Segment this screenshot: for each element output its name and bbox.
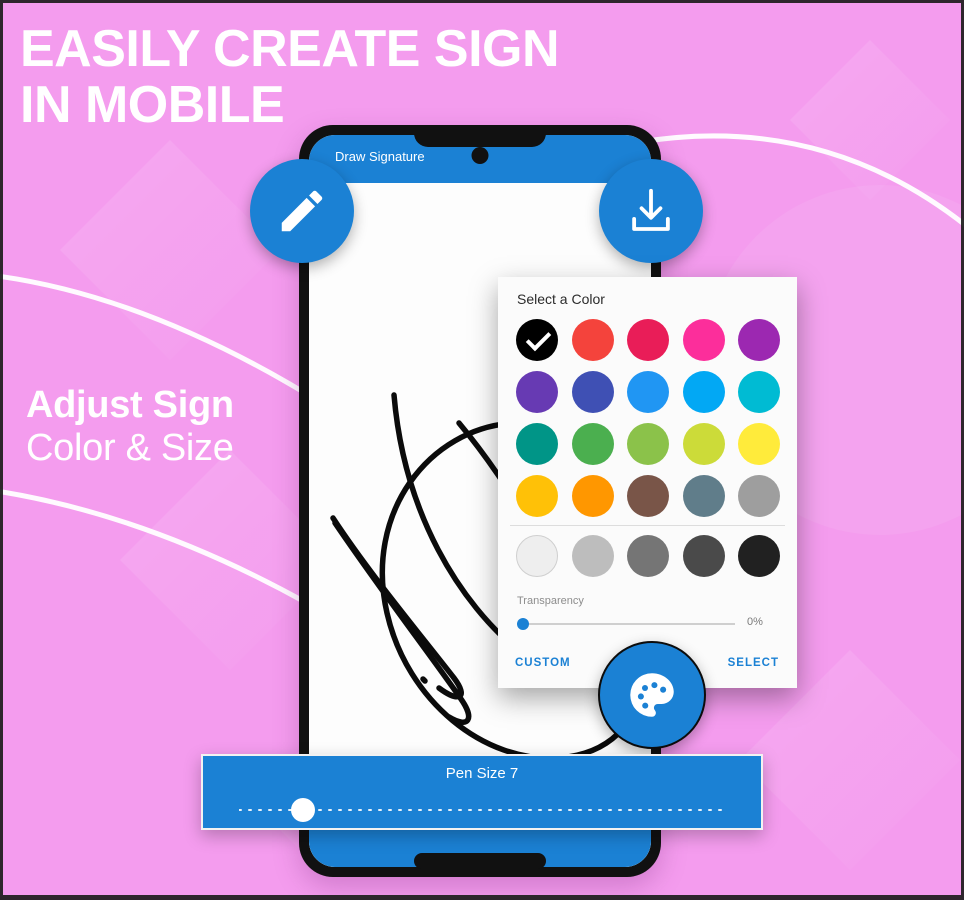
dialog-divider [510,525,785,526]
grayscale-swatch[interactable] [683,535,725,577]
pen-size-slider[interactable] [239,800,723,820]
pen-size-label: Pen Size 7 [203,765,761,782]
pen-size-panel: Pen Size 7 [201,754,763,830]
grayscale-swatch[interactable] [516,535,558,577]
transparency-label: Transparency [517,595,584,607]
color-swatch-row [516,475,780,517]
grayscale-swatch[interactable] [572,535,614,577]
color-picker-dialog: Select a Color Transparency 0% CUSTOM SE… [498,277,797,688]
color-swatch[interactable] [516,371,558,413]
color-swatch[interactable] [683,423,725,465]
color-swatch[interactable] [627,371,669,413]
color-swatch[interactable] [627,319,669,361]
subheadline-line-2: Color & Size [26,426,346,472]
color-swatch[interactable] [683,475,725,517]
color-swatch[interactable] [683,371,725,413]
color-swatch[interactable] [683,319,725,361]
color-swatch[interactable] [627,423,669,465]
save-fab[interactable] [599,159,703,263]
color-swatch-grid [516,319,780,527]
pen-size-thumb[interactable] [291,798,315,822]
headline-line-1: EASILY CREATE SIGN [20,22,640,78]
app-bar-title: Draw Signature [335,149,425,164]
home-indicator [414,853,546,869]
dialog-title: Select a Color [517,291,605,307]
custom-button[interactable]: CUSTOM [515,657,571,669]
palette-fab[interactable] [598,641,706,749]
select-button[interactable]: SELECT [728,657,779,669]
phone-notch [414,125,546,147]
headline: EASILY CREATE SIGN IN MOBILE [20,22,640,133]
color-swatch-row [516,535,780,577]
subheadline: Adjust Sign Color & Size [26,385,346,472]
color-swatch[interactable] [572,371,614,413]
color-swatch[interactable] [738,423,780,465]
color-swatch[interactable] [627,475,669,517]
color-swatch[interactable] [738,319,780,361]
download-icon [624,184,678,238]
color-swatch[interactable] [738,371,780,413]
pencil-icon [275,184,329,238]
subheadline-line-1: Adjust Sign [26,385,346,426]
transparency-value: 0% [747,616,763,628]
grayscale-swatch[interactable] [627,535,669,577]
grayscale-swatch-row [516,535,780,587]
edit-fab[interactable] [250,159,354,263]
front-camera-dot [472,147,489,164]
transparency-track [525,623,735,625]
color-swatch[interactable] [738,475,780,517]
color-swatch[interactable] [572,319,614,361]
color-swatch[interactable] [516,475,558,517]
promo-banner: EASILY CREATE SIGN IN MOBILE Adjust Sign… [0,0,964,900]
transparency-slider[interactable]: 0% [517,617,779,631]
color-swatch[interactable] [572,423,614,465]
transparency-thumb[interactable] [517,618,529,630]
color-swatch-row [516,371,780,413]
color-swatch-row [516,423,780,465]
grayscale-swatch[interactable] [738,535,780,577]
color-swatch[interactable] [516,319,558,361]
palette-icon [623,666,681,724]
color-swatch[interactable] [516,423,558,465]
color-swatch-row [516,319,780,361]
color-swatch[interactable] [572,475,614,517]
